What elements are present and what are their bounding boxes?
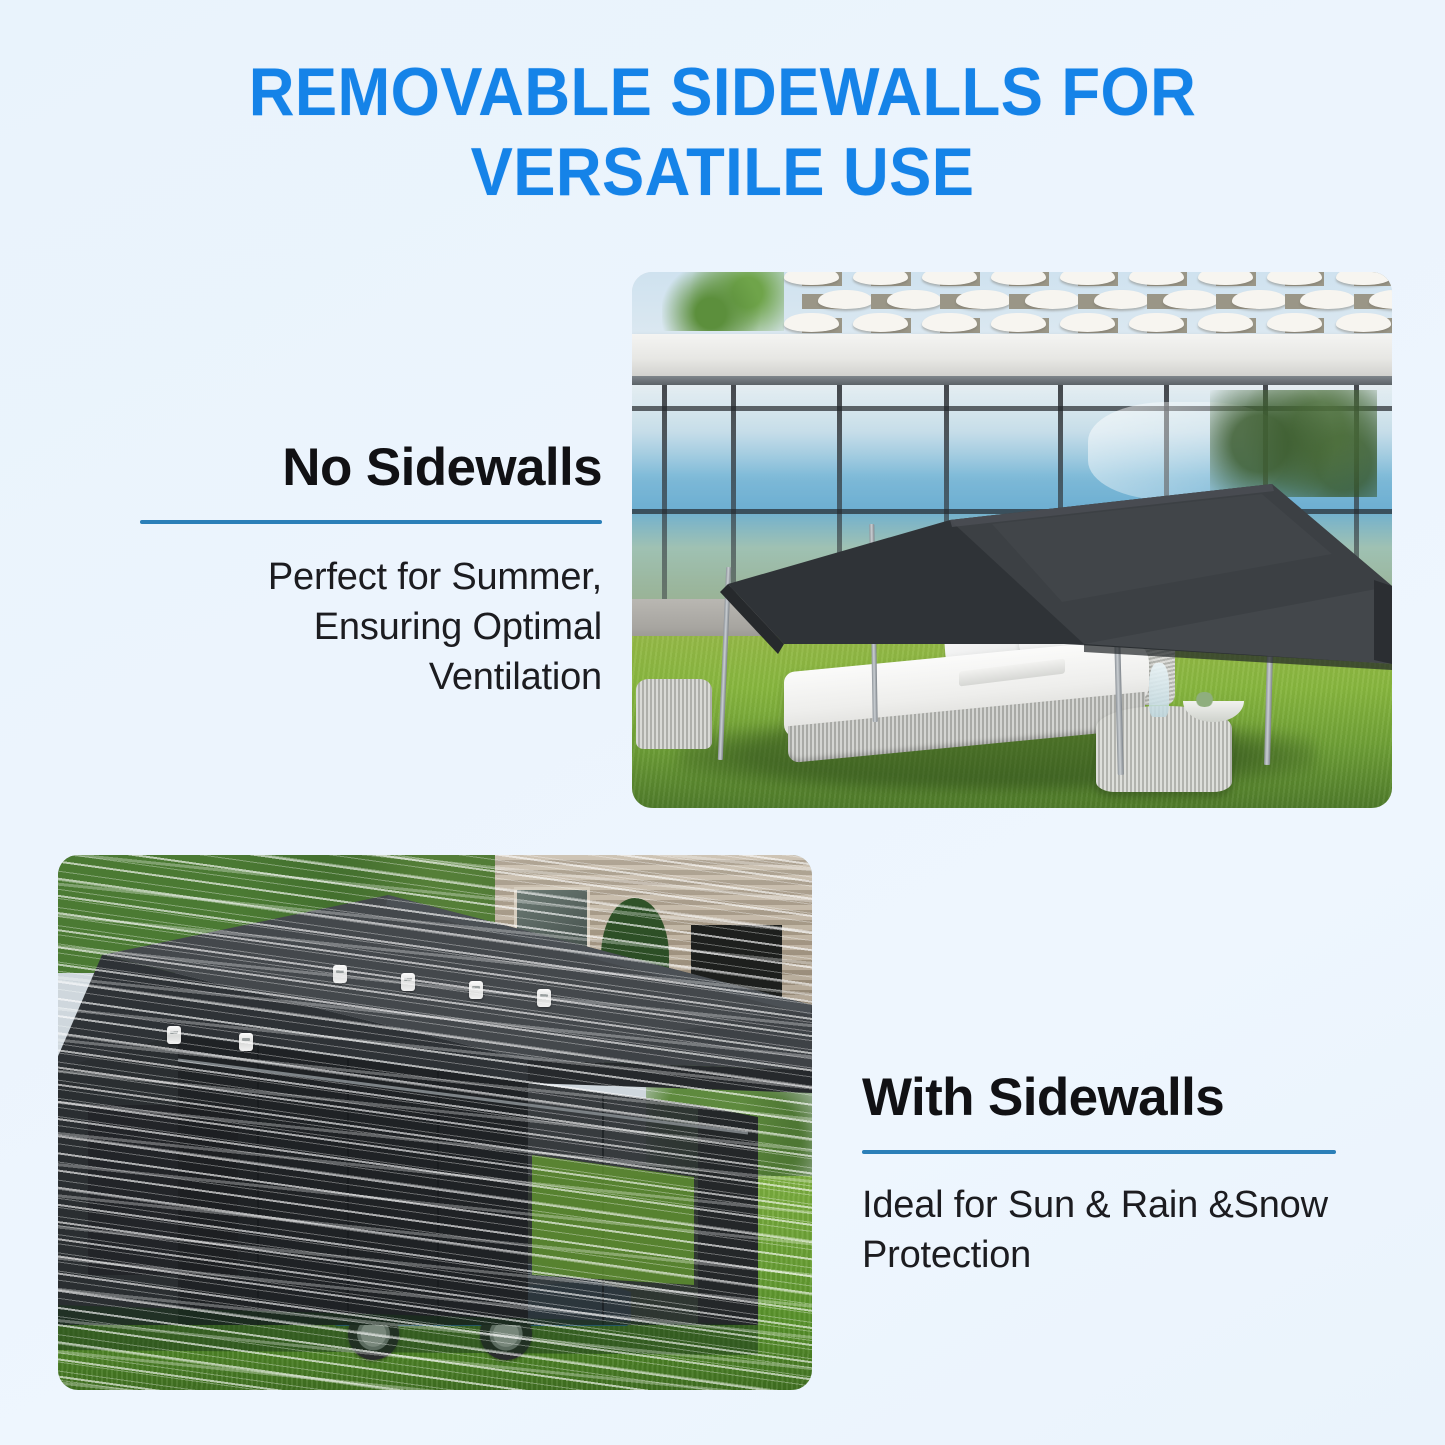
sidewall-clip xyxy=(469,981,483,999)
page-title-line-1: REMOVABLE SIDEWALLS FOR xyxy=(249,54,1197,130)
sidewall-clip xyxy=(333,965,347,983)
feature-title: No Sidewalls xyxy=(140,440,602,496)
feature-divider xyxy=(140,520,602,524)
page-title: REMOVABLE SIDEWALLS FOR VERSATILE USE xyxy=(51,52,1395,212)
feature-description-line-2: Protection xyxy=(862,1230,1336,1280)
feature-description-line-1: Ideal for Sun & Rain &Snow xyxy=(862,1180,1336,1230)
feature-description-line-1: Perfect for Summer, xyxy=(140,552,602,602)
sidewall-clip xyxy=(401,973,415,991)
canopy-roof xyxy=(632,272,1392,808)
page-title-line-2: VERSATILE USE xyxy=(51,132,1395,212)
photo-no-sidewalls xyxy=(632,272,1392,808)
feature-description: Ideal for Sun & Rain &Snow Protection xyxy=(862,1180,1336,1280)
sidewall-clip xyxy=(537,989,551,1007)
photo-with-sidewalls xyxy=(58,855,812,1390)
feature-block-with-sidewalls: With Sidewalls Ideal for Sun & Rain &Sno… xyxy=(862,1070,1336,1280)
carport-with-sidewalls xyxy=(58,855,812,1390)
feature-divider xyxy=(862,1150,1336,1154)
feature-title: With Sidewalls xyxy=(862,1070,1336,1126)
sidewall-clip xyxy=(239,1033,253,1051)
sidewall-clip xyxy=(167,1026,181,1044)
feature-block-no-sidewalls: No Sidewalls Perfect for Summer, Ensurin… xyxy=(140,440,602,702)
feature-description: Perfect for Summer, Ensuring Optimal Ven… xyxy=(140,552,602,702)
feature-description-line-2: Ensuring Optimal Ventilation xyxy=(140,602,602,702)
